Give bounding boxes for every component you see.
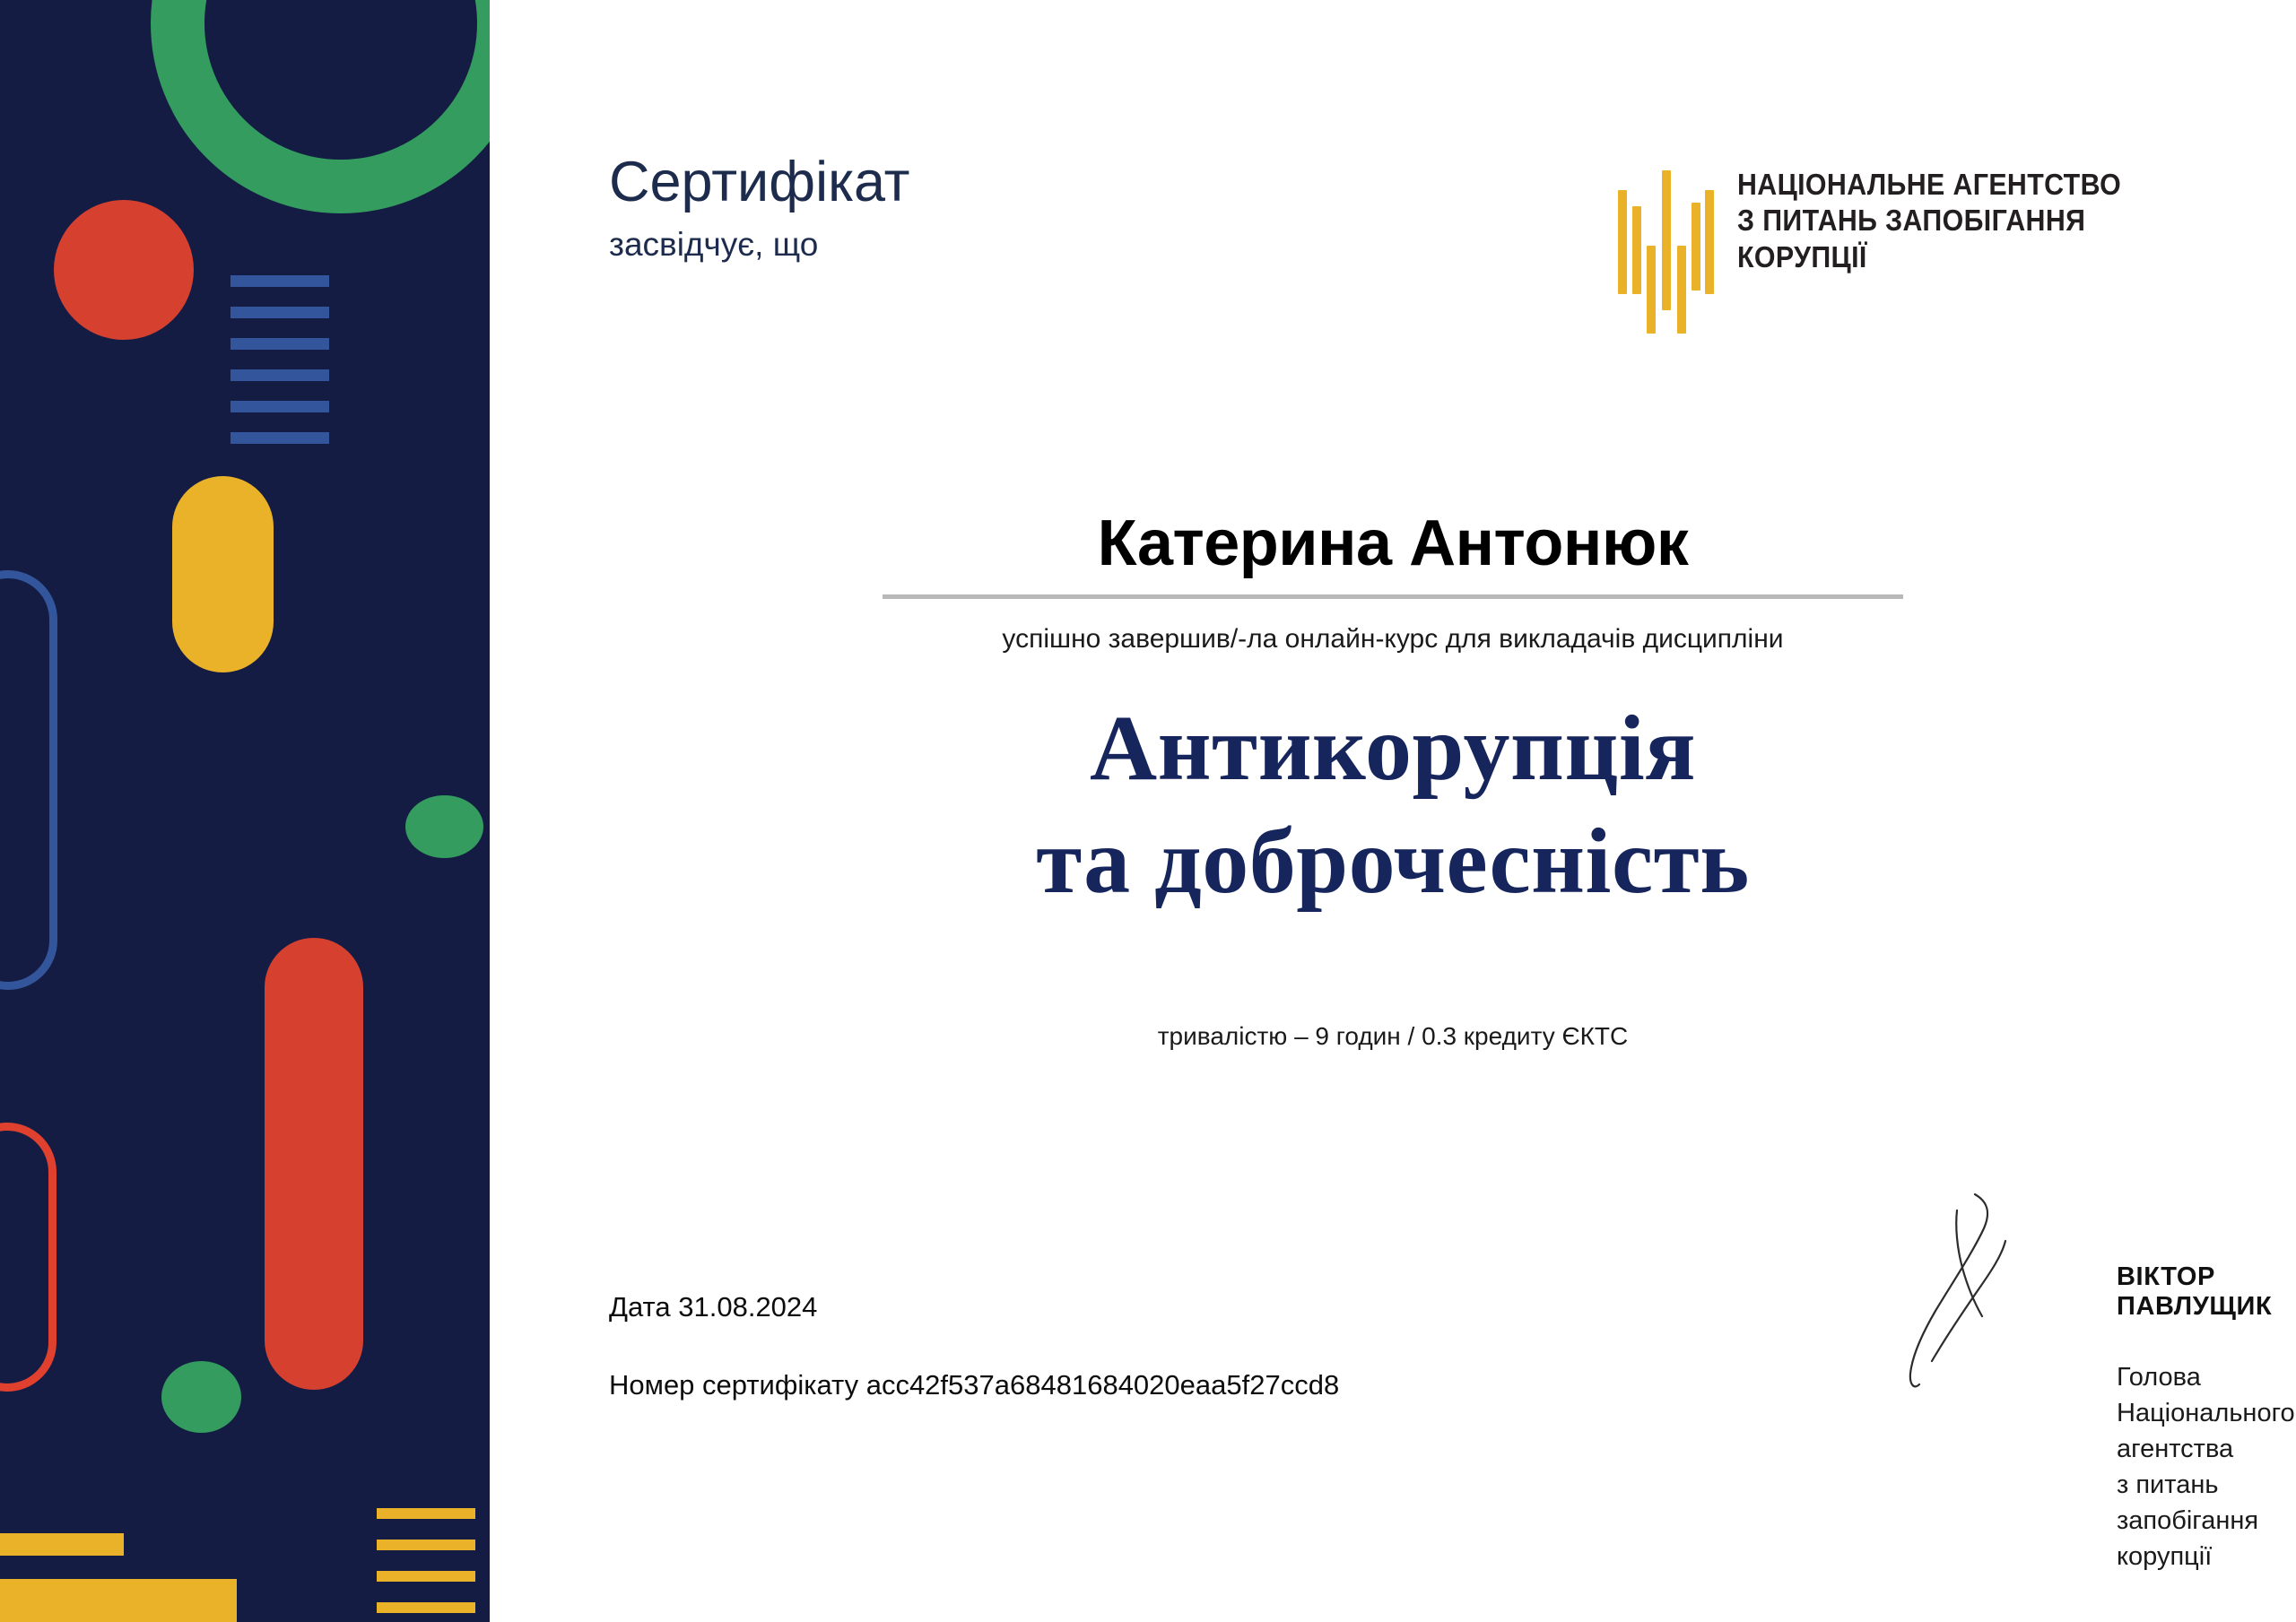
certificate-number: Номер сертифікату acc42f537a68481684020e…	[609, 1369, 1339, 1401]
signatory-role-line-1: Голова Національного агентства	[2117, 1359, 2296, 1467]
red-circle-shape	[54, 200, 194, 340]
nazk-logo-mark-icon	[1618, 167, 1714, 310]
signatory-role-line-2: з питань запобігання корупції	[2117, 1467, 2296, 1574]
recipient-block: Катерина Антонюк успішно завершив/-ла он…	[490, 511, 2296, 655]
certificate-header: Сертифікат засвідчує, що	[609, 152, 910, 264]
recipient-divider	[883, 594, 1903, 599]
nazk-logo-line-3: КОРУПЦІЇ	[1737, 240, 1867, 273]
yellow-bar-shape-large	[0, 1579, 237, 1622]
green-dot-shape-upper	[405, 795, 483, 858]
page-subtitle: засвідчує, що	[609, 226, 910, 264]
yellow-bar-shape-small	[0, 1533, 124, 1556]
signatory-role: Голова Національного агентства з питань …	[2117, 1359, 2296, 1574]
certificate-meta: Дата 31.08.2024 Номер сертифікату acc42f…	[609, 1291, 1339, 1401]
yellow-lines-shape	[377, 1508, 475, 1622]
yellow-pill-shape	[172, 476, 274, 672]
red-pill-shape	[265, 938, 363, 1390]
nazk-logo: НАЦІОНАЛЬНЕ АГЕНТСТВО З ПИТАНЬ ЗАПОБІГАН…	[1618, 167, 2154, 310]
certificate-body: Сертифікат засвідчує, що НАЦІОНАЛЬНЕ АГЕ…	[490, 0, 2296, 1622]
recipient-name: Катерина Антонюк	[490, 511, 2296, 576]
course-title-line-2: та доброчесність	[490, 805, 2296, 918]
red-outline-pill-shape	[0, 1123, 57, 1392]
signature-texts: ВІКТОР ПАВЛУЩИК Голова Національного аге…	[2117, 1185, 2296, 1574]
course-duration: тривалістю – 9 годин / 0.3 кредиту ЄКТС	[490, 1022, 2296, 1051]
green-ring-shape	[151, 0, 490, 213]
certificate-page: Сертифікат засвідчує, що НАЦІОНАЛЬНЕ АГЕ…	[0, 0, 2296, 1622]
page-title: Сертифікат	[609, 152, 910, 212]
nazk-logo-line-1: НАЦІОНАЛЬНЕ АГЕНТСТВО	[1737, 168, 2121, 201]
course-title-line-1: Антикорупція	[490, 692, 2296, 805]
issue-date: Дата 31.08.2024	[609, 1291, 1339, 1323]
course-title: Антикорупція та доброчесність	[490, 692, 2296, 918]
blue-outline-pill-shape	[0, 570, 57, 990]
green-dot-shape-lower	[161, 1361, 241, 1433]
signature-icon	[1905, 1185, 2084, 1409]
decorative-sidebar	[0, 0, 490, 1622]
nazk-logo-line-2: З ПИТАНЬ ЗАПОБІГАННЯ	[1737, 204, 2085, 237]
nazk-logo-text: НАЦІОНАЛЬНЕ АГЕНТСТВО З ПИТАНЬ ЗАПОБІГАН…	[1737, 167, 2121, 275]
signature-block: ВІКТОР ПАВЛУЩИК Голова Національного аге…	[1905, 1185, 2296, 1574]
signatory-name: ВІКТОР ПАВЛУЩИК	[2117, 1262, 2296, 1322]
blue-stripes-shape	[230, 275, 329, 446]
recipient-caption: успішно завершив/-ла онлайн-курс для вик…	[490, 624, 2296, 655]
